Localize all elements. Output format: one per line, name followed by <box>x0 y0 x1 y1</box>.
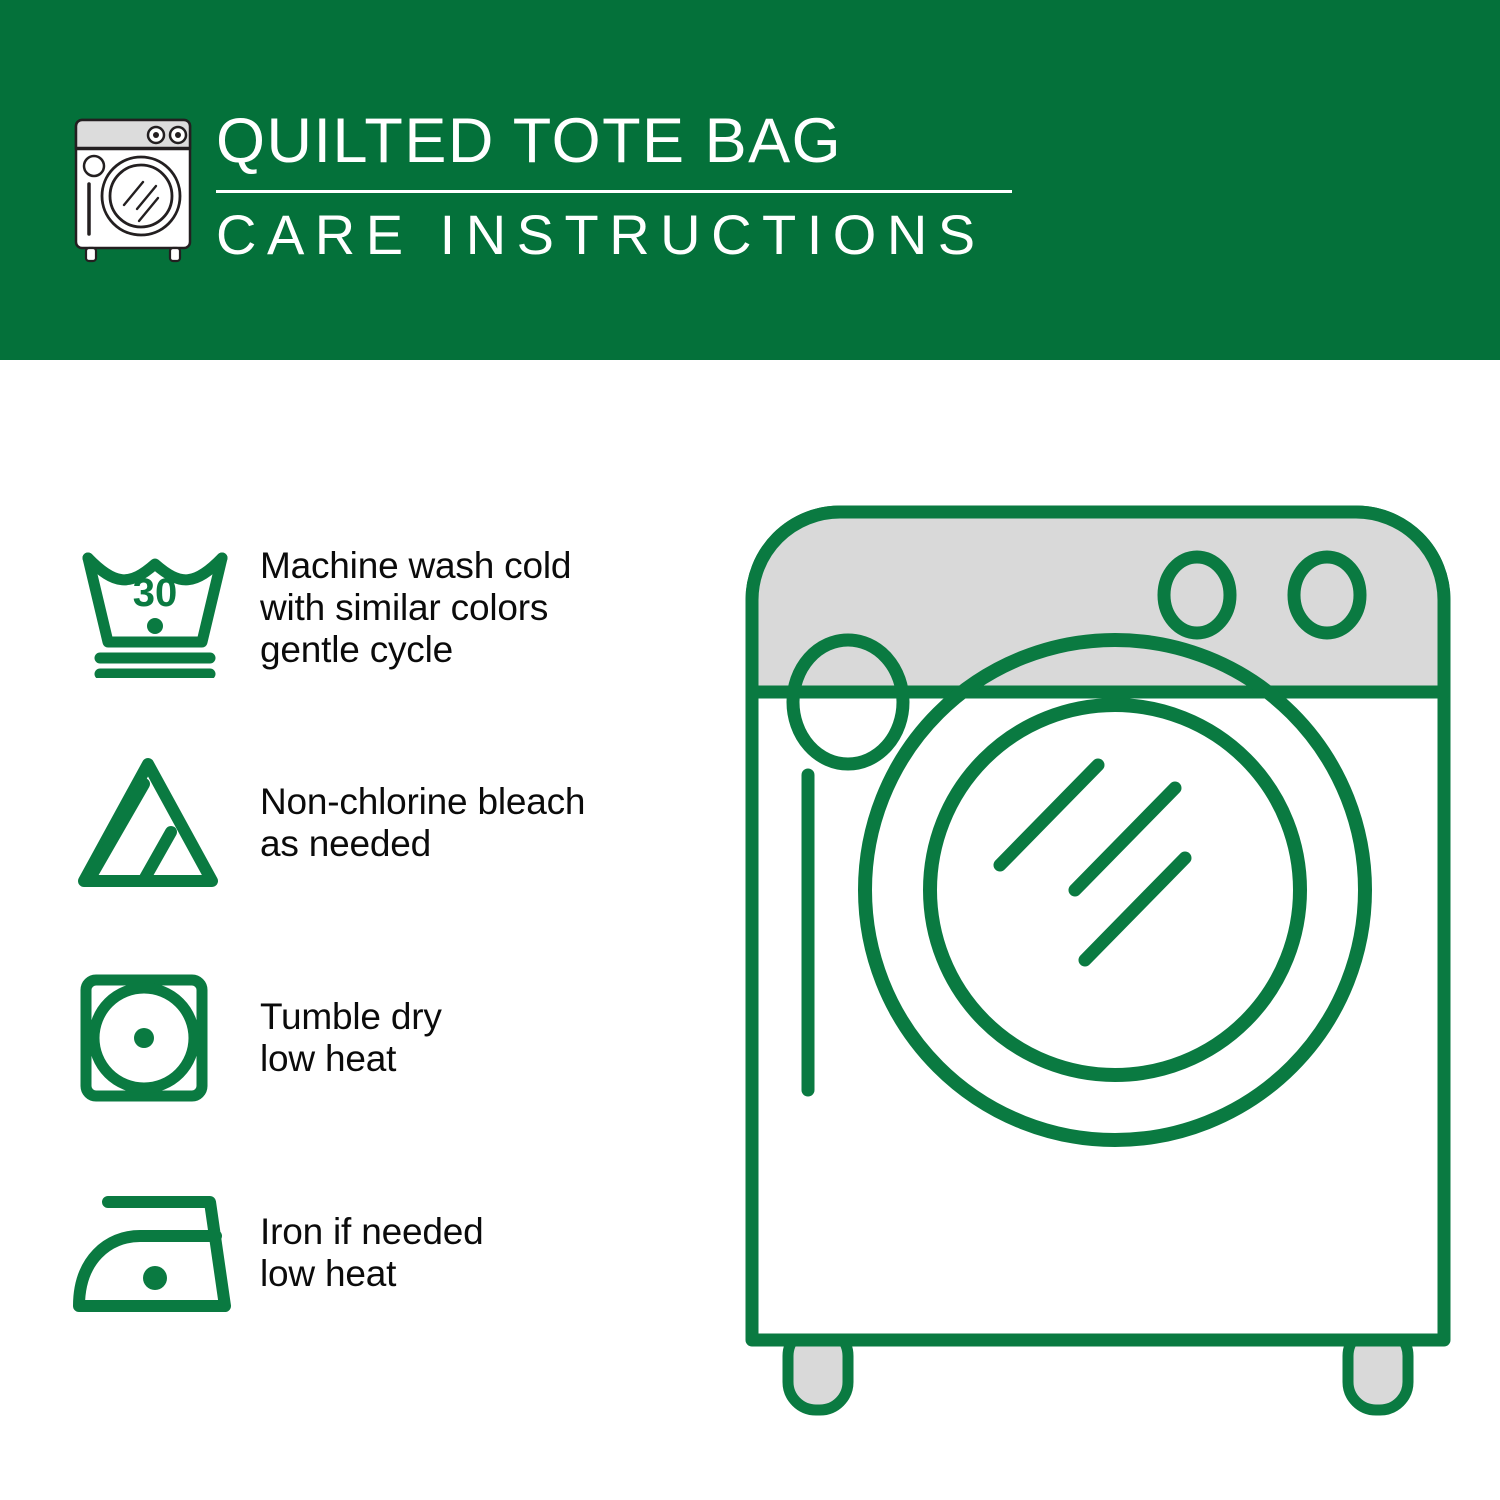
label-line: low heat <box>260 1253 483 1295</box>
list-item: Iron if needed low heat <box>70 1145 710 1360</box>
list-item: 30 Machine wash cold with similar colors… <box>70 500 710 715</box>
label-line: with similar colors <box>260 587 571 629</box>
label-line: Non-chlorine bleach <box>260 781 585 823</box>
label-line: Tumble dry <box>260 996 442 1038</box>
title-divider <box>216 190 1012 193</box>
machine-wash-30-gentle-symbol: 30 <box>70 538 260 678</box>
front-load-washing-machine-illustration <box>730 490 1460 1440</box>
washing-machine-icon <box>63 108 203 263</box>
label-line: as needed <box>260 823 585 865</box>
page-title: QUILTED TOTE BAG <box>216 104 1016 178</box>
care-instruction-list: 30 Machine wash cold with similar colors… <box>70 500 710 1360</box>
label-line: Iron if needed <box>260 1211 483 1253</box>
label-line: Machine wash cold <box>260 545 571 587</box>
label-line: gentle cycle <box>260 629 571 671</box>
list-item: Tumble dry low heat <box>70 930 710 1145</box>
iron-low-heat-symbol <box>70 1188 260 1318</box>
tumble-dry-low-symbol <box>70 968 260 1108</box>
list-item-label: Iron if needed low heat <box>260 1211 483 1295</box>
control-panel <box>752 512 1444 692</box>
wash-temperature-value: 30 <box>133 571 178 615</box>
list-item-label: Tumble dry low heat <box>260 996 442 1080</box>
label-line: low heat <box>260 1038 442 1080</box>
header-banner: QUILTED TOTE BAG CARE INSTRUCTIONS <box>0 0 1500 360</box>
header-text-block: QUILTED TOTE BAG CARE INSTRUCTIONS <box>216 104 1016 269</box>
list-item-label: Machine wash cold with similar colors ge… <box>260 545 571 671</box>
list-item-label: Non-chlorine bleach as needed <box>260 781 585 865</box>
page-subtitle: CARE INSTRUCTIONS <box>216 201 1016 269</box>
list-item: Non-chlorine bleach as needed <box>70 715 710 930</box>
non-chlorine-bleach-symbol <box>70 750 260 895</box>
